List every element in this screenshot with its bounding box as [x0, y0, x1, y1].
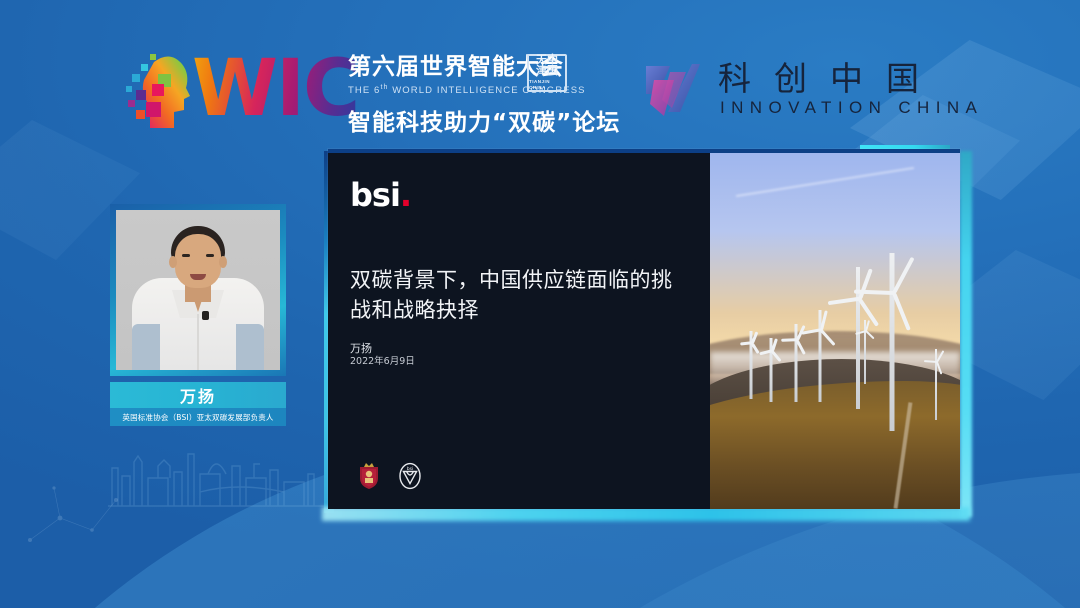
wind-turbine [740, 331, 762, 399]
svg-text:bsi: bsi [407, 466, 414, 472]
speaker-name: 万扬 [180, 383, 216, 407]
bsi-logo: bsi. [350, 179, 710, 211]
speaker-name-plate: 万扬 [110, 382, 286, 408]
innovation-china-cn: 科创中国 [718, 52, 942, 100]
forum-title-cn: 智能科技助力“双碳”论坛 [348, 103, 568, 137]
bsi-dot: . [400, 176, 411, 214]
background-dot-network [20, 470, 130, 560]
slide-title: 双碳背景下，中国供应链面临的挑战和战略抉择 [350, 265, 690, 325]
speaker-title-plate: 英国标准协会（BSI）亚太双碳发展部负责人 [110, 408, 286, 426]
wind-turbine [760, 338, 782, 402]
slide-content-pane: bsi. 双碳背景下，中国供应链面临的挑战和战略抉择 万扬 2022年6月9日 [328, 153, 710, 509]
seal-sub: TIANJIN CHINA [529, 79, 565, 91]
screen-root: WIC 第六届世界智能大会 THE 6th WORLD INTELLIGENCE… [0, 0, 1080, 608]
presentation-slide[interactable]: bsi. 双碳背景下，中国供应链面临的挑战和战略抉择 万扬 2022年6月9日 [322, 145, 970, 515]
slide-bottom-accent-border [322, 507, 970, 521]
lapel-mic-icon [202, 311, 209, 320]
slide-footer-logos: bsi [354, 461, 422, 491]
innovation-china-logo: 科创中国 INNOVATION CHINA [640, 52, 960, 130]
wind-turbine [925, 349, 947, 420]
wic-logo: WIC [124, 38, 344, 138]
slide-frame: bsi. 双碳背景下，中国供应链面临的挑战和战略抉择 万扬 2022年6月9日 [328, 149, 960, 509]
wind-farm-photo [710, 153, 960, 509]
speaker-title: 英国标准协会（BSI）亚太双碳发展部负责人 [122, 412, 273, 423]
speaker-portrait-frame [110, 204, 286, 376]
wind-turbine [805, 310, 835, 403]
speaker-card: 万扬 英国标准协会（BSI）亚太双碳发展部负责人 [110, 204, 286, 426]
tianjin-china-seal-icon: 天中 津国 TIANJIN CHINA [527, 54, 567, 92]
wic-wordmark: WIC [192, 50, 358, 128]
avatar [116, 210, 280, 370]
wind-turbine [855, 320, 875, 384]
seal-line-2: 津国 [536, 66, 558, 77]
congress-en-prefix: THE [348, 85, 374, 96]
slide-right-accent-border [960, 151, 972, 517]
butterfly-mark-icon [640, 60, 708, 122]
background-skyline-outline [108, 448, 338, 508]
bsi-kitemark-icon: bsi [398, 462, 422, 490]
royal-charter-crest-icon [354, 461, 384, 491]
header-logo-bar: WIC 第六届世界智能大会 THE 6th WORLD INTELLIGENCE… [0, 0, 1080, 150]
bsi-wordmark: bsi [350, 176, 400, 214]
slide-date: 2022年6月9日 [350, 355, 415, 369]
innovation-china-en: INNOVATION CHINA [720, 98, 983, 118]
